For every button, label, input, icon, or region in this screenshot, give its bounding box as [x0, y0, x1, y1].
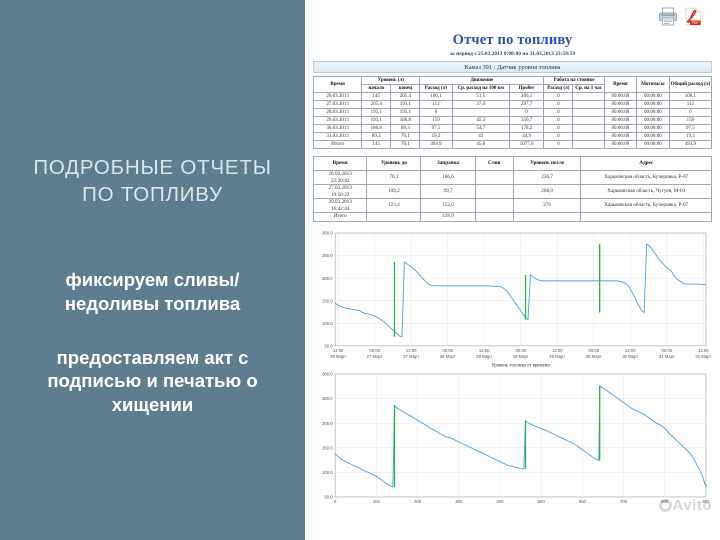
cell-time: 00:00:00 [604, 93, 636, 101]
svg-text:29 Март: 29 Март [549, 354, 565, 359]
cell-time: 00:00:00 [604, 109, 636, 117]
cell-before: 123,4 [367, 199, 421, 213]
cell-before: 109,2 [367, 185, 421, 199]
cell-start: 89,3 [362, 133, 391, 141]
svg-text:28 Март: 28 Март [476, 354, 492, 359]
cell-avg100 [452, 109, 509, 117]
fuel-summary-table: Время Уровень (л) Движение Работа на сто… [313, 76, 712, 149]
th-time2: Время [604, 77, 636, 93]
report-panel: PDF Отчет по топливу за период с 25.03.2… [305, 0, 720, 540]
cell-moto: 00:00:00 [636, 109, 669, 117]
cell-refuel: 166,6 [421, 171, 475, 185]
cell-date: 29.03.2013 [314, 117, 362, 125]
table-row: 30.03.2013186,889,397,554,7178,2000:00:0… [314, 125, 712, 133]
cell-total: 159 [669, 117, 711, 125]
cell-start: 205,4 [362, 101, 391, 109]
cell-before [367, 213, 421, 222]
th-motohours: Моточасы [636, 77, 669, 93]
cell-idle-cons: 0 [544, 93, 573, 101]
svg-text:00:00: 00:00 [442, 348, 453, 353]
cell-idle-avg [573, 117, 604, 125]
svg-text:200.0: 200.0 [322, 276, 333, 281]
cell-idle-cons: 0 [544, 117, 573, 125]
cell-mileage: 1077,6 [509, 141, 543, 149]
svg-text:250.0: 250.0 [322, 253, 333, 258]
table-row: 29.03.2013193,1186,815945,3350,7000:00:0… [314, 117, 712, 125]
cell-avg100: 51,5 [452, 93, 509, 101]
cell-refuel: 99,7 [421, 185, 475, 199]
svg-text:300.0: 300.0 [322, 231, 333, 236]
cell-before: 70,1 [367, 171, 421, 185]
svg-text:300.0: 300.0 [322, 372, 333, 377]
th-idle-consumption: Расход (л) [544, 85, 573, 93]
report-toolbar: PDF [313, 0, 712, 28]
chart-1-svg: 50.0100.0150.0200.0250.0300.012:0026 Мар… [313, 229, 712, 368]
th-address: Адрес [581, 157, 712, 171]
cell-drain [475, 199, 513, 213]
cell-moto: 00:00:00 [636, 125, 669, 133]
cell-total: 97,5 [669, 125, 711, 133]
cell-cons: 493,9 [420, 141, 452, 149]
th-time: Время [314, 77, 362, 93]
svg-text:31 Март: 31 Март [695, 354, 711, 359]
cell-time: 00:00:00 [604, 101, 636, 109]
cell-cons: 0 [420, 109, 452, 117]
cell-idle-avg [573, 141, 604, 149]
th-level-start: начало [362, 85, 391, 93]
th-event-time: Время [314, 157, 367, 171]
th-level-before: Уровень до [367, 157, 421, 171]
svg-text:0: 0 [334, 499, 337, 504]
cell-after: 208,9 [513, 185, 581, 199]
cell-moto: 00:00:00 [636, 141, 669, 149]
cell-time: 00:00:00 [604, 125, 636, 133]
svg-text:200: 200 [414, 499, 422, 504]
svg-text:29 Март: 29 Март [513, 354, 529, 359]
cell-idle-avg [573, 133, 604, 141]
svg-text:28 Март: 28 Март [440, 354, 456, 359]
svg-text:26 Март: 26 Март [330, 354, 346, 359]
cell-avg100: 45,8 [452, 141, 509, 149]
cell-after: 236,7 [513, 171, 581, 185]
cell-total: 19,3 [669, 133, 711, 141]
report-period: за период с 25.03.2013 0:00:00 по 31.03.… [313, 51, 712, 57]
cell-start: 145 [362, 141, 391, 149]
th-level-group: Уровень (л) [362, 77, 420, 85]
cell-idle-avg [573, 109, 604, 117]
cell-start: 186,8 [362, 125, 391, 133]
th-refuel: Заправка [421, 157, 475, 171]
cell-moto: 00:00:00 [636, 93, 669, 101]
svg-text:00:00: 00:00 [369, 348, 380, 353]
chart-fuel-vs-time: 50.0100.0150.0200.0250.0300.012:0026 Мар… [313, 229, 712, 368]
table-row: Итого418,9 [314, 213, 712, 222]
th-move-avg100: Ср. расход на 100 км [452, 85, 509, 93]
svg-text:00:00: 00:00 [589, 348, 600, 353]
cell-start: 145 [362, 93, 391, 101]
cell-date: 26.03.2013 [314, 93, 362, 101]
cell-date: 28.03.2013 [314, 109, 362, 117]
refuel-events-body: 26.03.2013 22:20:4270,1166,6236,7Харьков… [314, 171, 712, 222]
cell-address: Харьковская область, Кучеровка, Р-07 [581, 199, 712, 213]
cell-end: 205,4 [391, 93, 420, 101]
chart-2-svg: 50.0100.0150.0200.0250.0300.001002003004… [313, 370, 712, 511]
table-row: 31.03.201389,370,119,34344,9000:00:0000:… [314, 133, 712, 141]
th-total: Общий расход (л) [669, 77, 711, 93]
svg-text:30 Март: 30 Март [586, 354, 602, 359]
th-idle-group: Работа на стоянке [544, 77, 604, 85]
cell-refuel: 418,9 [421, 213, 475, 222]
cell-mileage: 178,2 [509, 125, 543, 133]
cell-avg100: 37,6 [452, 101, 509, 109]
cell-end: 193,1 [391, 109, 420, 117]
cell-mileage: 206,1 [509, 93, 543, 101]
svg-text:700: 700 [620, 499, 628, 504]
svg-text:400: 400 [496, 499, 504, 504]
cell-after [513, 213, 581, 222]
table-row: Итого14570,1493,945,81077,6000:00:0000:0… [314, 141, 712, 149]
svg-text:30 Март: 30 Март [622, 354, 638, 359]
svg-text:100.0: 100.0 [322, 321, 333, 326]
svg-text:12:00: 12:00 [552, 348, 563, 353]
svg-text:50.0: 50.0 [324, 495, 333, 500]
cell-avg100: 45,3 [452, 117, 509, 125]
table-row: 29.03.2013 16:42:44123,4152,6276Харьковс… [314, 199, 712, 213]
table-row: 28.03.2013193,1193,100000:00:0000:00:000 [314, 109, 712, 117]
svg-text:600: 600 [579, 499, 587, 504]
cell-time: 27.03.2013 19:56:23 [314, 185, 367, 199]
svg-text:27 Март: 27 Март [403, 354, 419, 359]
svg-text:250.0: 250.0 [322, 396, 333, 401]
cell-avg100: 54,7 [452, 125, 509, 133]
cell-time: 00:00:00 [604, 141, 636, 149]
promo-panel: ПОДРОБНЫЕ ОТЧЕТЫ ПО ТОПЛИВУ фиксируем сл… [0, 0, 305, 540]
cell-end: 89,3 [391, 125, 420, 133]
report-title: Отчет по топливу [313, 32, 712, 49]
cell-address: Харьковская область, Чугуев, М-03 [581, 185, 712, 199]
cell-avg100: 43 [452, 133, 509, 141]
cell-total: 493,9 [669, 141, 711, 149]
cell-end: 70,1 [391, 133, 420, 141]
svg-text:27 Март: 27 Март [367, 354, 383, 359]
cell-drain [475, 171, 513, 185]
cell-end: 70,1 [391, 141, 420, 149]
cell-cons: 112 [420, 101, 452, 109]
cell-time: 26.03.2013 22:20:42 [314, 171, 367, 185]
svg-text:00:00: 00:00 [662, 348, 673, 353]
promo-line-2: предоставляем акт с подписью и печатью о… [47, 346, 257, 417]
table-row: 27.03.2013205,4193,111237,6297,7000:00:0… [314, 101, 712, 109]
fuel-summary-body: 26.03.2013145205,4106,151,5206,1000:00:0… [314, 93, 712, 149]
svg-text:150.0: 150.0 [322, 445, 333, 450]
svg-text:00:00: 00:00 [515, 348, 526, 353]
cell-cons: 159 [420, 117, 452, 125]
th-level-after: Уровень после [513, 157, 581, 171]
th-movement-group: Движение [420, 77, 544, 85]
cell-end: 193,1 [391, 101, 420, 109]
svg-text:300: 300 [455, 499, 463, 504]
cell-date: 31.03.2013 [314, 133, 362, 141]
th-mileage: Пробег [509, 85, 543, 93]
cell-time: Итого [314, 213, 367, 222]
svg-text:31 Март: 31 Март [659, 354, 675, 359]
pdf-icon[interactable]: PDF [683, 7, 703, 26]
svg-text:12:00: 12:00 [406, 348, 417, 353]
cell-date: Итого [314, 141, 362, 149]
svg-text:100: 100 [373, 499, 381, 504]
promo-title: ПОДРОБНЫЕ ОТЧЕТЫ ПО ТОПЛИВУ [33, 155, 271, 208]
cell-refuel: 152,6 [421, 199, 475, 213]
cell-start: 193,1 [362, 109, 391, 117]
svg-text:12:00: 12:00 [698, 348, 709, 353]
table-row: 26.03.2013145205,4106,151,5206,1000:00:0… [314, 93, 712, 101]
svg-text:Уровень топлива от времени: Уровень топлива от времени [491, 364, 550, 369]
th-drain: Слив [475, 157, 513, 171]
th-idle-avg-hour: Ср. на 1 час [573, 85, 604, 93]
svg-text:12:00: 12:00 [625, 348, 636, 353]
cell-idle-avg [573, 125, 604, 133]
cell-idle-cons: 0 [544, 133, 573, 141]
cell-moto: 00:00:00 [636, 117, 669, 125]
svg-text:500: 500 [538, 499, 546, 504]
printer-icon[interactable] [658, 7, 678, 26]
cell-idle-cons: 0 [544, 109, 573, 117]
svg-text:12:00: 12:00 [479, 348, 490, 353]
svg-text:12:00: 12:00 [333, 348, 344, 353]
cell-end: 186,8 [391, 117, 420, 125]
svg-text:800: 800 [661, 499, 669, 504]
cell-date: 30.03.2013 [314, 125, 362, 133]
cell-mileage: 297,7 [509, 101, 543, 109]
slide-root: ПОДРОБНЫЕ ОТЧЕТЫ ПО ТОПЛИВУ фиксируем сл… [0, 0, 720, 540]
cell-date: 27.03.2013 [314, 101, 362, 109]
cell-moto: 00:00:00 [636, 101, 669, 109]
cell-cons: 97,5 [420, 125, 452, 133]
promo-line-1: фиксируем сливы/ недоливы топлива [65, 268, 240, 315]
cell-cons: 106,1 [420, 93, 452, 101]
svg-text:200.0: 200.0 [322, 421, 333, 426]
svg-text:PDF: PDF [692, 21, 699, 25]
cell-after: 276 [513, 199, 581, 213]
cell-address: Харьковская область, Кучеровка, Р-07 [581, 171, 712, 185]
cell-moto: 00:00:00 [636, 133, 669, 141]
table-row: 27.03.2013 19:56:23109,299,7208,9Харьков… [314, 185, 712, 199]
cell-drain [475, 185, 513, 199]
cell-mileage: 0 [509, 109, 543, 117]
table-row: 26.03.2013 22:20:4270,1166,6236,7Харьков… [314, 171, 712, 185]
cell-cons: 19,3 [420, 133, 452, 141]
cell-time: 29.03.2013 16:42:44 [314, 199, 367, 213]
svg-text:900: 900 [702, 499, 710, 504]
cell-start: 193,1 [362, 117, 391, 125]
cell-time: 00:00:00 [604, 133, 636, 141]
object-band: Камаз 391 : Датчик уровня топлива [313, 61, 712, 73]
svg-text:150.0: 150.0 [322, 298, 333, 303]
refuel-events-table: Время Уровень до Заправка Слив Уровень п… [313, 156, 712, 222]
cell-total: 106,1 [669, 93, 711, 101]
cell-idle-cons: 0 [544, 125, 573, 133]
cell-idle-avg [573, 93, 604, 101]
th-level-end: конец [391, 85, 420, 93]
cell-idle-cons: 0 [544, 101, 573, 109]
svg-text:100.0: 100.0 [322, 470, 333, 475]
cell-idle-cons: 0 [544, 141, 573, 149]
cell-mileage: 350,7 [509, 117, 543, 125]
cell-total: 112 [669, 101, 711, 109]
cell-address [581, 213, 712, 222]
chart-fuel-vs-distance: 50.0100.0150.0200.0250.0300.001002003004… [313, 370, 712, 511]
cell-idle-avg [573, 101, 604, 109]
th-move-consumption: Расход (л) [420, 85, 452, 93]
table-group-header-row: Время Уровень (л) Движение Работа на сто… [314, 77, 712, 85]
events-header-row: Время Уровень до Заправка Слив Уровень п… [314, 157, 712, 171]
cell-mileage: 44,9 [509, 133, 543, 141]
cell-drain [475, 213, 513, 222]
cell-total: 0 [669, 109, 711, 117]
cell-time: 00:00:00 [604, 117, 636, 125]
